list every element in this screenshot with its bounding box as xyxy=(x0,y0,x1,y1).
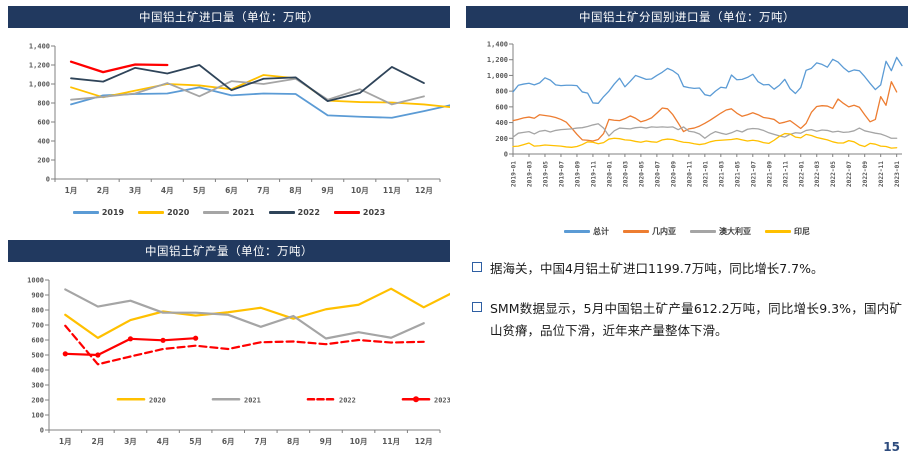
legend-swatch xyxy=(73,211,99,214)
legend-swatch xyxy=(690,230,716,233)
svg-text:0: 0 xyxy=(504,151,508,159)
legend-item-2023: 2023 xyxy=(334,208,385,217)
panel-import-total: 中国铝土矿进口量（单位：万吨） 02004006008001,0001,2001… xyxy=(8,6,450,232)
svg-text:400: 400 xyxy=(37,138,50,146)
series-lines xyxy=(71,62,450,118)
svg-text:0: 0 xyxy=(40,427,44,435)
chart-import-total-svg: 02004006008001,0001,2001,400 1月2月3月4月5月6… xyxy=(8,36,450,206)
svg-text:2020-03: 2020-03 xyxy=(622,161,629,187)
svg-text:0: 0 xyxy=(46,176,50,184)
svg-text:2020-01: 2020-01 xyxy=(606,161,613,187)
svg-text:12月: 12月 xyxy=(415,186,433,195)
legend-label: 2021 xyxy=(232,208,254,217)
svg-text:700: 700 xyxy=(31,322,44,330)
svg-text:9月: 9月 xyxy=(321,186,334,195)
svg-text:2020-09: 2020-09 xyxy=(670,161,677,187)
y-tick-labels: 02004006008001,0001,2001,400 xyxy=(29,43,55,184)
panel-output: 中国铝土矿产量（单位：万吨） 0100200300400500600700800… xyxy=(8,240,450,462)
legend-item-2021: 2021 xyxy=(203,208,254,217)
svg-text:8月: 8月 xyxy=(289,186,302,195)
chart-output-svg: 01002003004005006007008009001000 1月2月3月4… xyxy=(8,272,450,458)
svg-text:800: 800 xyxy=(37,100,50,108)
chart-import-total: 02004006008001,0001,2001,400 1月2月3月4月5月6… xyxy=(8,36,450,206)
svg-text:2020-11: 2020-11 xyxy=(686,161,693,187)
svg-text:2022-03: 2022-03 xyxy=(814,161,821,187)
svg-text:11月: 11月 xyxy=(383,186,401,195)
svg-text:2月: 2月 xyxy=(97,186,110,195)
svg-text:6月: 6月 xyxy=(225,186,238,195)
svg-text:500: 500 xyxy=(31,352,44,360)
svg-text:10月: 10月 xyxy=(351,186,369,195)
note-text: 据海关，中国4月铝土矿进口1199.7万吨，同比增长7.7%。 xyxy=(490,258,823,280)
svg-text:200: 200 xyxy=(495,135,508,143)
svg-text:5月: 5月 xyxy=(189,437,202,446)
legend-item-2022: 2022 xyxy=(269,208,320,217)
svg-text:400: 400 xyxy=(495,119,508,127)
legend-label: 2022 xyxy=(298,208,320,217)
svg-text:2022-09: 2022-09 xyxy=(862,161,869,187)
note-item: SMM数据显示，5月中国铝土矿产量612.2万吨，同比增长9.3%，国内矿山贫瘠… xyxy=(472,298,902,342)
svg-text:2023-01: 2023-01 xyxy=(894,161,901,187)
chart-output-legend: 2020202120222023 xyxy=(118,396,450,404)
svg-text:7月: 7月 xyxy=(257,186,270,195)
svg-text:300: 300 xyxy=(31,382,44,390)
svg-text:2021-09: 2021-09 xyxy=(766,161,773,187)
panel-import-country: 中国铝土矿分国别进口量（单位：万吨） 02004006008001,0001,2… xyxy=(466,6,908,232)
note-item: 据海关，中国4月铝土矿进口1199.7万吨，同比增长7.7%。 xyxy=(472,258,902,280)
svg-text:2021-11: 2021-11 xyxy=(782,161,789,187)
legend-swatch xyxy=(334,211,360,214)
series-lines xyxy=(63,289,450,365)
chart-output: 01002003004005006007008009001000 1月2月3月4… xyxy=(8,272,450,458)
legend-swatch xyxy=(269,211,295,214)
svg-text:2021-07: 2021-07 xyxy=(750,161,757,187)
svg-text:100: 100 xyxy=(31,412,44,420)
svg-text:1月: 1月 xyxy=(65,186,78,195)
svg-text:1,400: 1,400 xyxy=(29,43,50,51)
y-tick-labels: 01002003004005006007008009001000 xyxy=(27,277,49,435)
svg-text:2020-05: 2020-05 xyxy=(638,161,645,187)
svg-text:1,000: 1,000 xyxy=(29,81,50,89)
svg-text:4月: 4月 xyxy=(157,437,170,446)
x-tick-labels: 2019-012019-032019-052019-072019-092019-… xyxy=(511,154,902,187)
svg-text:2022-01: 2022-01 xyxy=(798,161,805,187)
legend-item-2019: 2019 xyxy=(73,208,124,217)
svg-text:6月: 6月 xyxy=(222,437,235,446)
svg-text:2019-03: 2019-03 xyxy=(526,161,533,187)
y-tick-labels: 02004006008001,0001,2001,400 xyxy=(487,41,513,159)
svg-text:2021-01: 2021-01 xyxy=(702,161,709,187)
x-tick-labels: 1月2月3月4月5月6月7月8月9月10月11月12月 xyxy=(55,179,440,195)
svg-text:2019-07: 2019-07 xyxy=(558,161,565,187)
legend-label-2021: 2021 xyxy=(244,396,261,404)
svg-text:2019-05: 2019-05 xyxy=(542,161,549,187)
svg-text:2月: 2月 xyxy=(92,437,105,446)
series-lines xyxy=(513,57,902,148)
svg-text:4月: 4月 xyxy=(161,186,174,195)
svg-text:5月: 5月 xyxy=(193,186,206,195)
svg-text:2021-05: 2021-05 xyxy=(734,161,741,187)
svg-text:600: 600 xyxy=(495,103,508,111)
svg-text:600: 600 xyxy=(31,337,44,345)
svg-text:200: 200 xyxy=(37,157,50,165)
svg-text:1,200: 1,200 xyxy=(487,56,508,64)
svg-text:2022-07: 2022-07 xyxy=(846,161,853,187)
svg-text:600: 600 xyxy=(37,119,50,127)
legend-swatch xyxy=(203,211,229,214)
panel-output-title: 中国铝土矿产量（单位：万吨） xyxy=(8,240,450,262)
svg-text:8月: 8月 xyxy=(287,437,300,446)
svg-text:200: 200 xyxy=(31,397,44,405)
legend-item-2020: 2020 xyxy=(138,208,189,217)
note-text: SMM数据显示，5月中国铝土矿产量612.2万吨，同比增长9.3%，国内矿山贫瘠… xyxy=(490,298,902,342)
legend-label-2022: 2022 xyxy=(339,396,356,404)
svg-text:2022-05: 2022-05 xyxy=(830,161,837,187)
panel-import-country-title: 中国铝土矿分国别进口量（单位：万吨） xyxy=(466,6,908,28)
legend-swatch xyxy=(138,211,164,214)
svg-text:10月: 10月 xyxy=(350,437,368,446)
chart-import-country-svg: 02004006008001,0001,2001,400 2019-012019… xyxy=(466,36,908,228)
legend-swatch xyxy=(623,230,649,233)
svg-text:1,000: 1,000 xyxy=(487,72,508,80)
svg-text:2020-07: 2020-07 xyxy=(654,161,661,187)
bullet-square-icon xyxy=(472,262,482,272)
svg-text:3月: 3月 xyxy=(129,186,142,195)
chart-import-total-legend: 20192020202120222023 xyxy=(8,208,450,217)
notes-list: 据海关，中国4月铝土矿进口1199.7万吨，同比增长7.7%。 SMM数据显示，… xyxy=(472,258,902,360)
svg-text:800: 800 xyxy=(31,307,44,315)
legend-label: 2020 xyxy=(167,208,189,217)
legend-label-2020: 2020 xyxy=(149,396,166,404)
legend-label: 2023 xyxy=(363,208,385,217)
svg-text:2019-09: 2019-09 xyxy=(574,161,581,187)
svg-text:400: 400 xyxy=(31,367,44,375)
legend-swatch xyxy=(765,230,791,233)
svg-text:1000: 1000 xyxy=(27,277,44,285)
svg-text:1月: 1月 xyxy=(59,437,72,446)
svg-text:1,400: 1,400 xyxy=(487,41,508,49)
svg-text:2019-01: 2019-01 xyxy=(511,161,518,187)
svg-text:2021-03: 2021-03 xyxy=(718,161,725,187)
svg-text:800: 800 xyxy=(495,88,508,96)
svg-text:12月: 12月 xyxy=(415,437,433,446)
legend-swatch xyxy=(564,230,590,233)
svg-text:11月: 11月 xyxy=(382,437,400,446)
svg-text:9月: 9月 xyxy=(320,437,333,446)
svg-text:7月: 7月 xyxy=(254,437,267,446)
svg-text:3月: 3月 xyxy=(124,437,137,446)
legend-label: 2019 xyxy=(102,208,124,217)
page-number: 15 xyxy=(883,440,900,454)
svg-text:2019-11: 2019-11 xyxy=(590,161,597,187)
legend-label-2023: 2023 xyxy=(434,396,450,404)
svg-text:1,200: 1,200 xyxy=(29,62,50,70)
svg-text:2022-11: 2022-11 xyxy=(878,161,885,187)
bullet-square-icon xyxy=(472,302,482,312)
panel-import-total-title: 中国铝土矿进口量（单位：万吨） xyxy=(8,6,450,28)
chart-import-country: 02004006008001,0001,2001,400 2019-012019… xyxy=(466,36,908,228)
svg-text:900: 900 xyxy=(31,292,44,300)
x-tick-labels: 1月2月3月4月5月6月7月8月9月10月11月12月 xyxy=(49,430,440,446)
